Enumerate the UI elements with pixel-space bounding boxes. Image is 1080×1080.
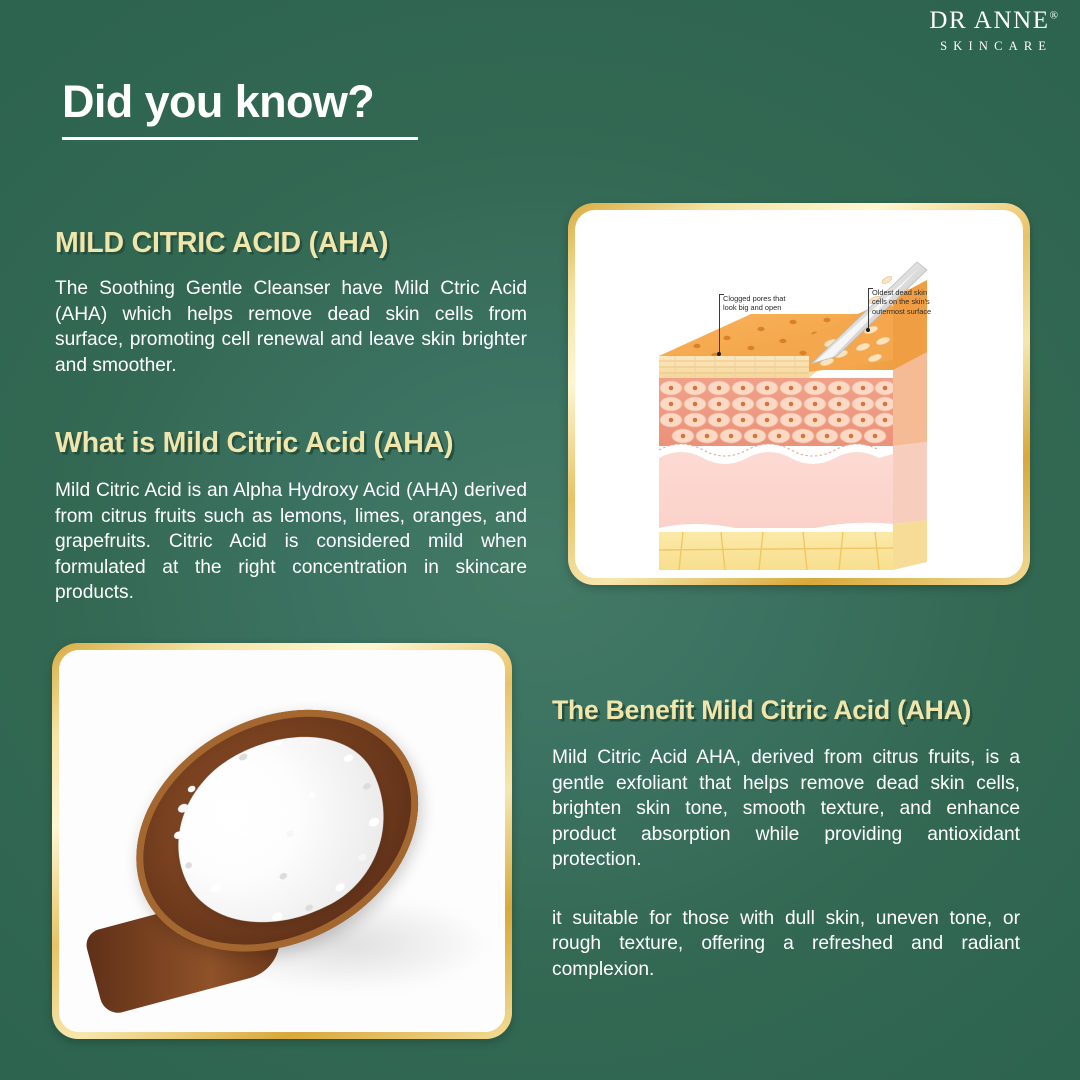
annotation-oldest-dead-skin-cells: Oldest dead skin cells on the skin's out… [872,288,931,316]
brand-logo: DR ANNE® SKINCARE [929,8,1058,53]
annotation-leader-dot [717,352,721,356]
section-heading: MILD CITRIC ACID (AHA) [55,228,527,259]
skin-diagram-frame: Clogged pores that look big and open Old… [575,210,1023,578]
brand-name: DR ANNE® [929,8,1058,33]
section-mild-citric-acid: MILD CITRIC ACID (AHA) The Soothing Gent… [55,228,527,378]
salt-spoon-frame [59,650,505,1032]
section-heading: The Benefit Mild Citric Acid (AHA) [552,696,1020,725]
annotation-leader-dot [866,328,870,332]
salt-spoon-card [52,643,512,1039]
annotation-leader-line [719,294,720,354]
title-underline-divider [62,137,418,140]
registered-trademark-icon: ® [1050,10,1058,22]
section-body-secondary: it suitable for those with dull skin, un… [552,906,1020,983]
skin-diagram-card: Clogged pores that look big and open Old… [568,203,1030,585]
salt-spoon-image [59,650,505,1032]
section-body: Mild Citric Acid AHA, derived from citru… [552,745,1020,873]
section-what-is-mild-citric-acid: What is Mild Citric Acid (AHA) Mild Citr… [55,428,527,606]
page-title-block: Did you know? [62,78,418,140]
brand-name-text: DR ANNE [929,7,1049,34]
annotation-clogged-pores: Clogged pores that look big and open [723,294,785,313]
section-body: The Soothing Gentle Cleanser have Mild C… [55,276,527,378]
skin-diagram-image: Clogged pores that look big and open Old… [575,210,1023,578]
annotation-leader-line [868,288,869,330]
section-body: Mild Citric Acid is an Alpha Hydroxy Aci… [55,478,527,606]
skin-cross-section-svg [575,210,1023,578]
section-heading: What is Mild Citric Acid (AHA) [55,428,527,459]
brand-tagline: SKINCARE [929,40,1058,53]
page-title: Did you know? [62,78,418,125]
section-benefit-mild-citric-acid: The Benefit Mild Citric Acid (AHA) Mild … [552,696,1020,982]
